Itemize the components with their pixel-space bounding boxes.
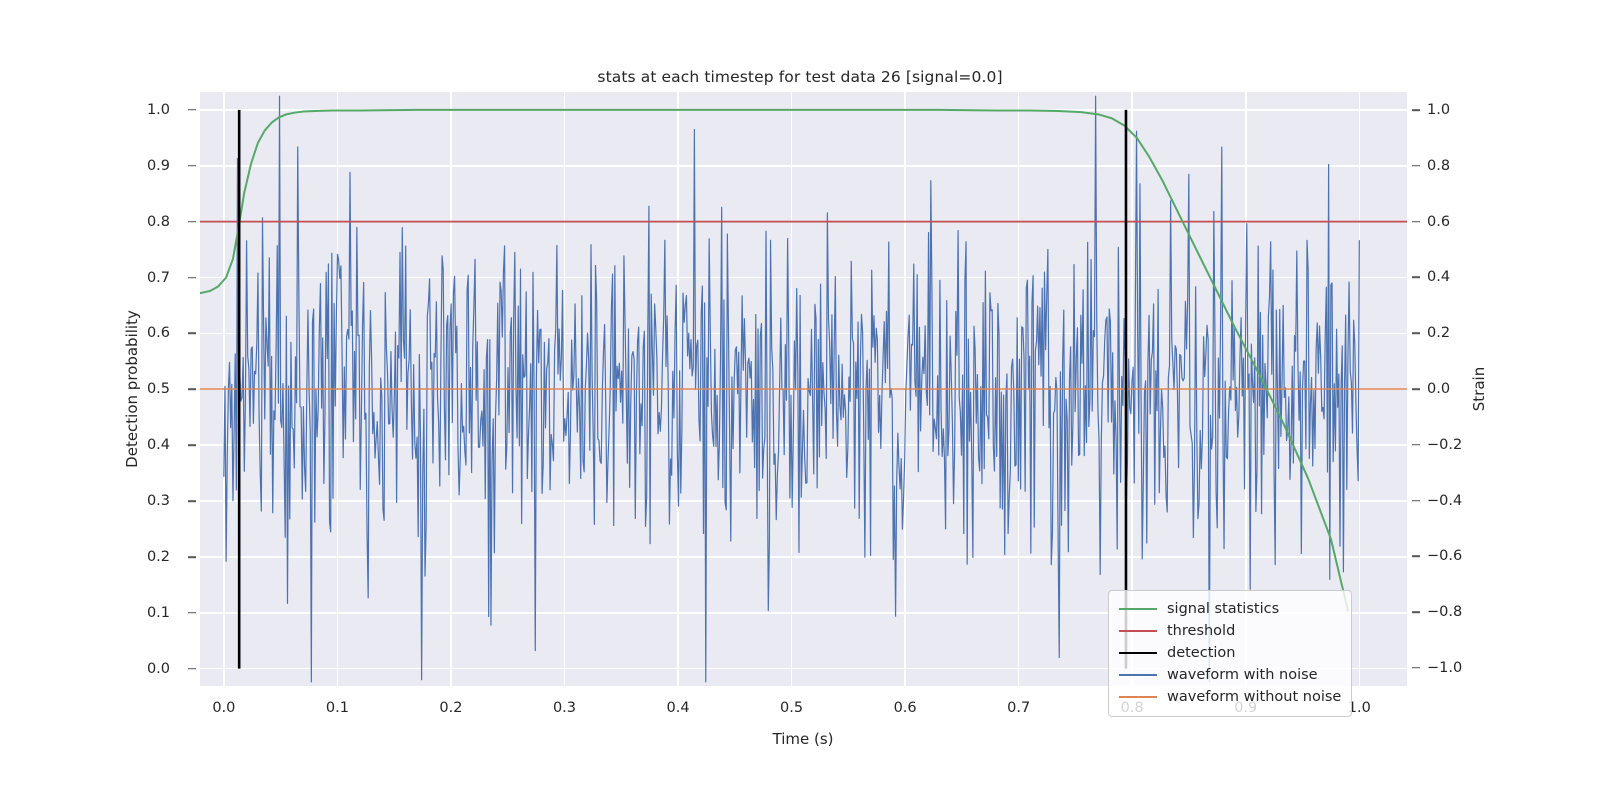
y-axis-left-tick-label: 0.0 xyxy=(100,661,170,677)
y-axis-left-tick-label: 0.2 xyxy=(100,549,170,565)
y-axis-left-tick-mark xyxy=(188,444,196,446)
x-axis-tick-label: 0.2 xyxy=(421,700,481,716)
legend-item-signal-statistics[interactable]: signal statistics xyxy=(1119,598,1341,620)
y-axis-right-tick-mark xyxy=(1412,109,1420,111)
y-axis-right-label: Strain xyxy=(1470,367,1488,411)
y-axis-left-tick-mark xyxy=(188,388,196,390)
legend-swatch-icon xyxy=(1119,608,1157,610)
y-axis-right-tick-mark xyxy=(1412,500,1420,502)
y-axis-left-tick-mark xyxy=(188,500,196,502)
y-axis-right-tick-label: 0.4 xyxy=(1427,269,1487,285)
y-axis-left-tick-label: 1.0 xyxy=(100,102,170,118)
y-axis-left-tick-mark xyxy=(188,109,196,111)
legend-item-label: detection xyxy=(1167,645,1235,661)
y-axis-left-tick-mark xyxy=(188,277,196,279)
y-axis-right-tick-label: −0.4 xyxy=(1427,493,1487,509)
y-axis-right-tick-mark xyxy=(1412,667,1420,669)
y-axis-right-tick-mark xyxy=(1412,165,1420,167)
legend-item-label: signal statistics xyxy=(1167,601,1279,617)
legend[interactable]: signal statisticsthresholddetectionwavef… xyxy=(1108,590,1352,717)
legend-item-waveform-without-noise[interactable]: waveform without noise xyxy=(1119,686,1341,708)
x-axis-label: Time (s) xyxy=(773,730,834,748)
y-axis-right-tick-label: −0.2 xyxy=(1427,437,1487,453)
y-axis-left-tick-mark xyxy=(188,612,196,614)
y-axis-left-tick-mark xyxy=(188,556,196,558)
y-axis-right-tick-mark xyxy=(1412,221,1420,223)
page-title: stats at each timestep for test data 26 … xyxy=(0,68,1600,86)
legend-swatch-icon xyxy=(1119,630,1157,632)
x-axis-tick-label: 0.0 xyxy=(194,700,254,716)
y-axis-left-tick-mark xyxy=(188,668,196,670)
x-axis-tick-label: 0.7 xyxy=(989,700,1049,716)
y-axis-left-tick-mark xyxy=(188,165,196,167)
y-axis-right-tick-label: −0.6 xyxy=(1427,548,1487,564)
y-axis-right-tick-mark xyxy=(1412,277,1420,279)
y-axis-right-tick-mark xyxy=(1412,332,1420,334)
legend-item-label: waveform with noise xyxy=(1167,667,1318,683)
y-axis-right-tick-mark xyxy=(1412,388,1420,390)
y-axis-left-tick-label: 0.9 xyxy=(100,158,170,174)
y-axis-right-tick-label: −1.0 xyxy=(1427,660,1487,676)
y-axis-right-tick-mark xyxy=(1412,556,1420,558)
legend-item-waveform-with-noise[interactable]: waveform with noise xyxy=(1119,664,1341,686)
y-axis-right-tick-label: −0.8 xyxy=(1427,604,1487,620)
legend-item-label: waveform without noise xyxy=(1167,689,1341,705)
x-axis-tick-label: 0.4 xyxy=(648,700,708,716)
y-axis-right-tick-label: 1.0 xyxy=(1427,102,1487,118)
y-axis-right-tick-mark xyxy=(1412,444,1420,446)
legend-item-threshold[interactable]: threshold xyxy=(1119,620,1341,642)
x-axis-tick-label: 0.3 xyxy=(534,700,594,716)
y-axis-right-tick-label: 0.8 xyxy=(1427,158,1487,174)
y-axis-left-label: Detection probability xyxy=(123,310,141,468)
legend-item-detection[interactable]: detection xyxy=(1119,642,1341,664)
x-axis-tick-label: 0.1 xyxy=(307,700,367,716)
legend-swatch-icon xyxy=(1119,696,1157,698)
y-axis-left-tick-mark xyxy=(188,221,196,223)
y-axis-left-tick-label: 0.3 xyxy=(100,493,170,509)
y-axis-left-tick-mark xyxy=(188,333,196,335)
legend-item-label: threshold xyxy=(1167,623,1235,639)
y-axis-right-tick-label: 0.6 xyxy=(1427,214,1487,230)
y-axis-right-tick-label: 0.2 xyxy=(1427,325,1487,341)
x-axis-tick-label: 0.6 xyxy=(875,700,935,716)
y-axis-left-tick-label: 0.8 xyxy=(100,214,170,230)
y-axis-right-tick-mark xyxy=(1412,611,1420,613)
legend-swatch-icon xyxy=(1119,652,1157,654)
legend-swatch-icon xyxy=(1119,674,1157,676)
x-axis-tick-label: 0.5 xyxy=(762,700,822,716)
y-axis-left-tick-label: 0.1 xyxy=(100,605,170,621)
figure-canvas: stats at each timestep for test data 26 … xyxy=(0,0,1600,800)
y-axis-left-tick-label: 0.7 xyxy=(100,270,170,286)
